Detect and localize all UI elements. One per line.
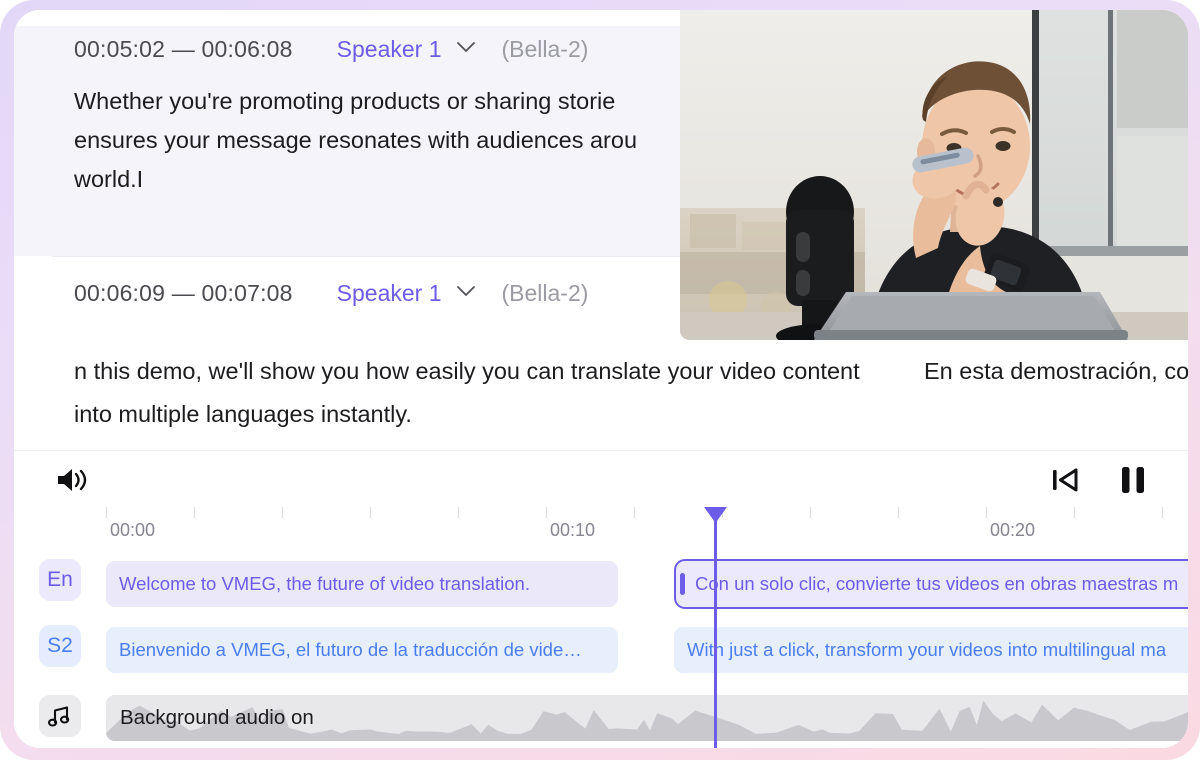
player-toolbar bbox=[14, 450, 1188, 509]
audio-clip[interactable]: Background audio on bbox=[106, 695, 1188, 741]
audio-clip-label: Background audio on bbox=[120, 706, 314, 730]
speaker-select-label[interactable]: Speaker 1 bbox=[337, 280, 442, 307]
timeline-panel[interactable]: 00:0000:1000:20 En Welcome to VMEG, the … bbox=[14, 507, 1188, 748]
ruler-tick bbox=[810, 507, 811, 518]
timeline-ruler[interactable]: 00:0000:1000:20 bbox=[14, 507, 1188, 551]
ruler-tick bbox=[634, 507, 635, 518]
track-badge-label: S2 bbox=[47, 634, 73, 658]
timeline-track-en: En Welcome to VMEG, the future of video … bbox=[14, 553, 1188, 609]
ruler-tick bbox=[898, 507, 899, 518]
timeline-clip[interactable]: Welcome to VMEG, the future of video tra… bbox=[106, 561, 618, 607]
voice-name-label: (Bella-2) bbox=[502, 280, 589, 307]
skip-to-start-icon[interactable] bbox=[1050, 466, 1080, 494]
timeline-playhead[interactable] bbox=[714, 513, 717, 748]
ruler-tick bbox=[1074, 507, 1075, 518]
ruler-label: 00:20 bbox=[990, 520, 1035, 541]
transcript-time-range: 00:06:09 — 00:07:08 bbox=[74, 280, 293, 307]
ruler-tick bbox=[106, 507, 107, 518]
clip-resize-handle-left[interactable] bbox=[680, 573, 685, 595]
pause-icon[interactable] bbox=[1118, 464, 1148, 496]
track-badge-label: En bbox=[47, 568, 73, 592]
track-badge-en[interactable]: En bbox=[39, 559, 81, 601]
ruler-tick bbox=[194, 507, 195, 518]
timeline-track-audio: Background audio on bbox=[14, 693, 1188, 748]
music-note-icon[interactable] bbox=[39, 695, 81, 737]
transcript-translation-row: n this demo, we'll show you how easily y… bbox=[14, 350, 1188, 440]
app-window: 00:05:02 — 00:06:08 Speaker 1 (Bella-2) … bbox=[14, 10, 1188, 748]
ruler-tick bbox=[986, 507, 987, 518]
track-badge-s2[interactable]: S2 bbox=[39, 625, 81, 667]
chevron-down-icon[interactable] bbox=[456, 41, 476, 53]
ruler-tick bbox=[282, 507, 283, 518]
chevron-down-icon[interactable] bbox=[456, 285, 476, 297]
video-preview-frame bbox=[680, 10, 1188, 340]
timeline-track-s2: S2 Bienvenido a VMEG, el futuro de la tr… bbox=[14, 619, 1188, 675]
transport-controls bbox=[1050, 462, 1148, 498]
transcript-time-range: 00:05:02 — 00:06:08 bbox=[74, 36, 293, 63]
speaker-wave-icon[interactable] bbox=[50, 464, 94, 496]
timeline-clip[interactable]: Bienvenido a VMEG, el futuro de la tradu… bbox=[106, 627, 618, 673]
transcript-text-translated[interactable]: En esta demostración, contenido de video… bbox=[924, 350, 1188, 393]
timeline-clip-text: Con un solo clic, convierte tus videos e… bbox=[695, 573, 1178, 595]
transcript-text-source[interactable]: n this demo, we'll show you how easily y… bbox=[14, 350, 874, 436]
ruler-label: 00:10 bbox=[550, 520, 595, 541]
timeline-clip-text: Bienvenido a VMEG, el futuro de la tradu… bbox=[119, 639, 582, 661]
timeline-clip-text: With just a click, transform your videos… bbox=[687, 639, 1166, 661]
timeline-clip[interactable]: With just a click, transform your videos… bbox=[674, 627, 1188, 673]
app-gradient-frame: 00:05:02 — 00:06:08 Speaker 1 (Bella-2) … bbox=[0, 0, 1200, 760]
timeline-clip-text: Welcome to VMEG, the future of video tra… bbox=[119, 573, 530, 595]
ruler-tick bbox=[370, 507, 371, 518]
speaker-select-label[interactable]: Speaker 1 bbox=[337, 36, 442, 63]
ruler-tick bbox=[546, 507, 547, 518]
voice-name-label: (Bella-2) bbox=[502, 36, 589, 63]
transcript-panel[interactable]: 00:05:02 — 00:06:08 Speaker 1 (Bella-2) … bbox=[14, 10, 1188, 450]
ruler-tick bbox=[1162, 507, 1163, 518]
ruler-label: 00:00 bbox=[110, 520, 155, 541]
video-preview[interactable] bbox=[680, 10, 1188, 340]
timeline-clip-selected[interactable]: Con un solo clic, convierte tus videos e… bbox=[674, 559, 1188, 609]
ruler-tick bbox=[458, 507, 459, 518]
